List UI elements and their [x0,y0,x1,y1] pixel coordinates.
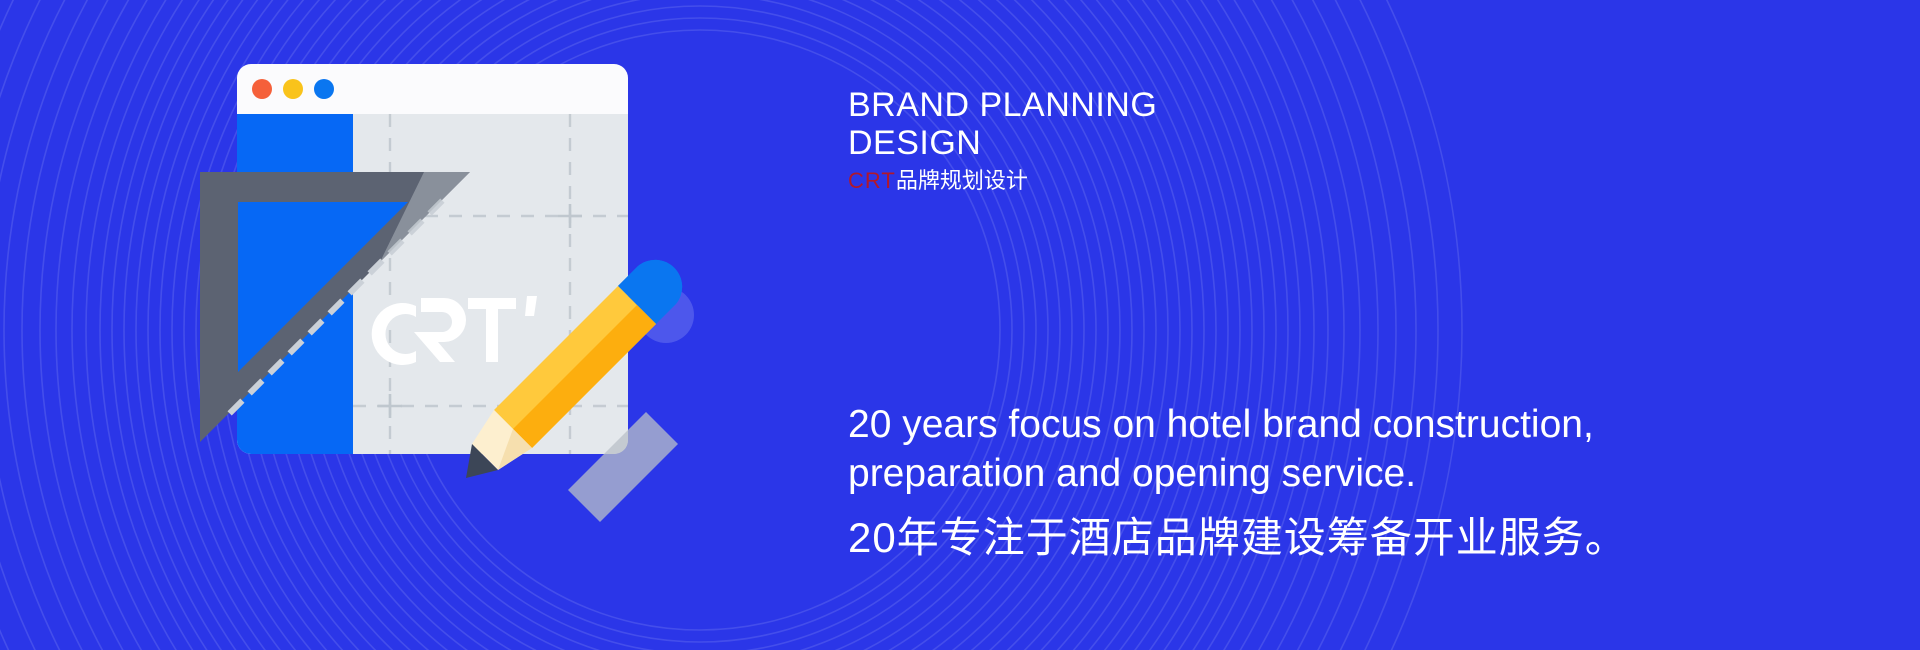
close-dot [252,79,272,99]
headline-english-line-1: 20 years focus on hotel brand constructi… [848,400,1748,449]
brand-design-illustration [180,50,720,610]
headline-chinese: 20年专注于酒店品牌建设筹备开业服务。 [848,512,1748,564]
eyebrow-block: BRAND PLANNING DESIGN CRT品牌规划设计 [848,86,1548,194]
eyebrow-brand-mark: CRT [848,168,896,193]
brand-banner: BRAND PLANNING DESIGN CRT品牌规划设计 20 years… [0,0,1920,650]
eyebrow-line-2: DESIGN [848,124,1548,162]
minimize-dot [283,79,303,99]
maximize-dot [314,79,334,99]
eyebrow-chinese-line: CRT品牌规划设计 [848,168,1548,194]
headline-english-line-2: preparation and opening service. [848,449,1748,498]
headline-block: 20 years focus on hotel brand constructi… [848,400,1748,564]
banner-copy: BRAND PLANNING DESIGN CRT品牌规划设计 20 years… [848,0,1848,650]
eyebrow-chinese-text: 品牌规划设计 [896,168,1028,193]
window-titlebar [252,79,334,99]
eyebrow-line-1: BRAND PLANNING [848,86,1548,124]
